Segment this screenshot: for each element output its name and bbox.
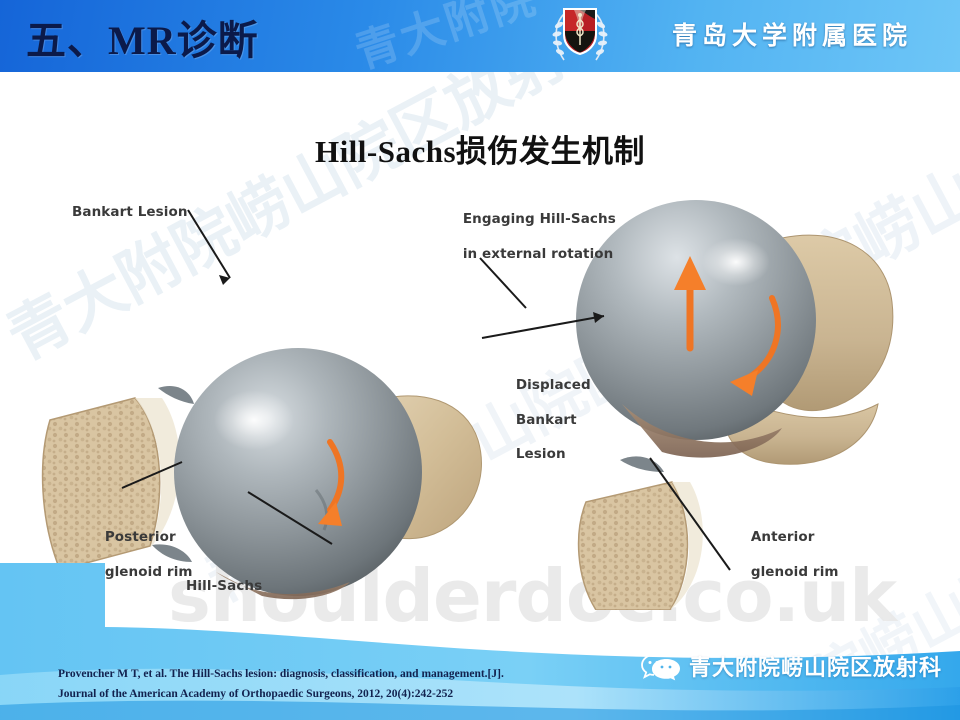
citation-line-2: Journal of the American Academy of Ortho… [58, 684, 578, 704]
label-line: Bankart [516, 412, 577, 428]
hospital-name: 青岛大学附属医院 [672, 16, 912, 52]
wechat-badge[interactable]: 青大附院崂山院区放射科 [641, 650, 942, 682]
label-line: in external rotation [463, 246, 614, 262]
label-line: Lesion [516, 446, 566, 462]
content-title: Hill-Sachs损伤发生机制 [0, 126, 960, 171]
label-displaced-bankart-lesion: Displaced Bankart Lesion [487, 360, 591, 481]
presentation-slide: 青大附院 五、MR诊断 [0, 0, 960, 720]
label-line: Engaging Hill-Sachs [463, 211, 616, 227]
specular-highlight [214, 390, 294, 450]
label-line: Anterior [751, 529, 815, 545]
label-engaging-hill-sachs: Engaging Hill-Sachs in external rotation [434, 194, 616, 280]
wechat-label: 青大附院崂山院区放射科 [689, 650, 942, 682]
label-line: Posterior [105, 529, 176, 545]
leader-arrowheads [219, 275, 604, 323]
specular-highlight [702, 238, 770, 286]
citation-line-1: Provencher M T, et al. The Hill-Sachs le… [58, 664, 578, 684]
slide-header: 青大附院 五、MR诊断 [0, 0, 960, 72]
citation-text: Provencher M T, et al. The Hill-Sachs le… [58, 664, 578, 704]
label-line: Displaced [516, 377, 591, 393]
header-watermark: 青大附院 [346, 0, 675, 72]
shield-caduceus-icon [562, 7, 598, 55]
slide-footer: Provencher M T, et al. The Hill-Sachs le… [0, 555, 960, 720]
label-bankart-lesion: Bankart Lesion [72, 204, 188, 221]
hospital-logo [548, 4, 612, 68]
page-title: 五、MR诊断 [26, 8, 259, 66]
wechat-bubble-icon [641, 651, 681, 681]
